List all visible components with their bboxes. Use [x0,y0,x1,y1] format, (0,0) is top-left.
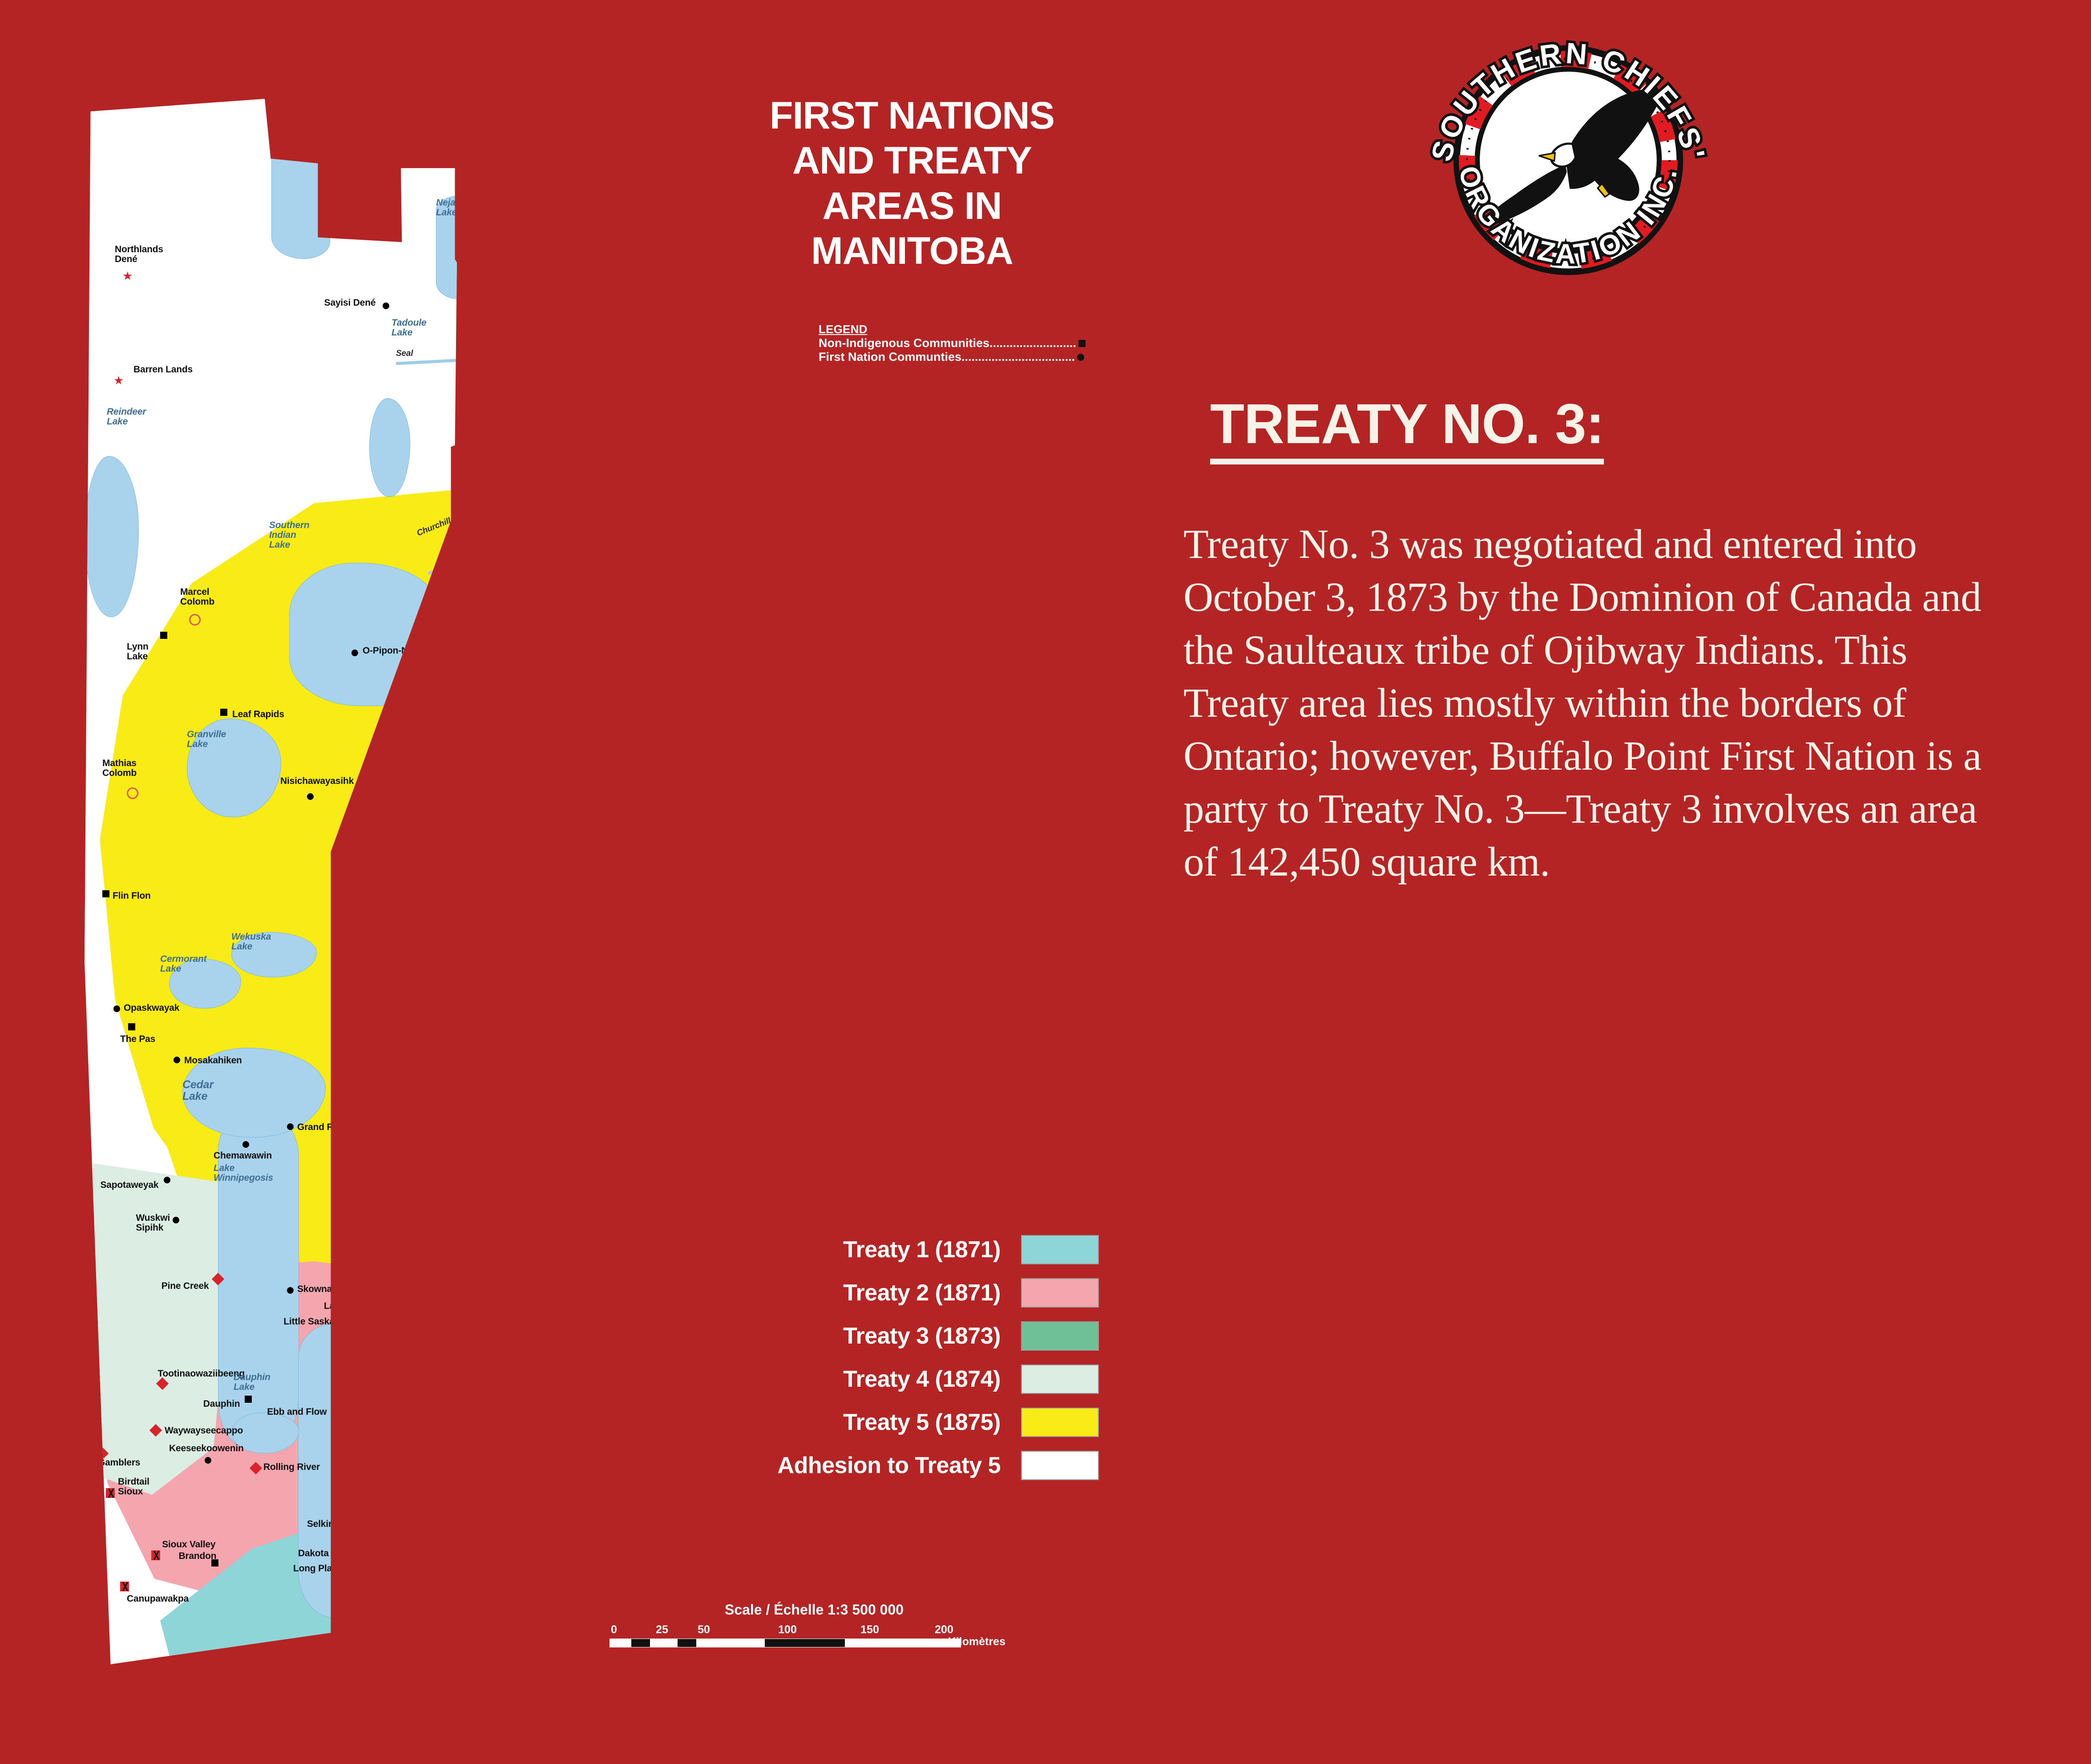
marker-dakota-plains [334,1582,343,1591]
marker-fisher-river [480,1358,492,1368]
marker-gillam [563,773,570,780]
label-little-black-river: Little BlackRiver [414,1439,463,1459]
label-gods-river: God's [667,825,690,834]
label-war-lake: War Lake [577,821,618,831]
label-gods-lake: God's Lake [496,936,545,946]
marker-rolling-river [250,1462,262,1474]
label-bunibonibee: Bunibonibee [436,894,492,904]
marker-garden-hill [631,1025,638,1032]
marker-barren-lands: ★ [113,376,124,387]
marker-ebb-and-flow [331,1410,338,1417]
scale-ticks: 0 25 50 100 150 200 [610,1623,1001,1639]
square-marker-icon [1078,340,1086,347]
marker-o-pipon-na-piwin [351,650,358,656]
marker-canupawakpa [120,1582,129,1591]
label-wasagamack: Wasagamack [556,1014,614,1024]
nelson-river-lower [515,714,625,868]
treaty-legend-row[interactable]: Treaty 1 (1871) [596,1228,1099,1271]
label-cedar-lake: CedarLake [182,1079,214,1102]
marker-flin-flon [102,890,109,897]
label-nejanilini-lake: NejaniliniLake [436,198,476,218]
marker-skownan [287,1287,294,1294]
label-brokenhead: Brokenhead [369,1524,422,1534]
marker-lake-manitoba [360,1430,367,1437]
label-buffalo-point: Buffalo Point [601,1736,661,1745]
label-ebb-and-flow: Ebb and Flow [267,1407,329,1417]
marker-poplar-river [463,1143,469,1150]
label-wuskwi-sipihk: WuskwiSipihk [136,1213,170,1233]
label-assiniboine-river: Assiniboine [351,1551,398,1577]
marker-st-theresa-point [612,1039,618,1045]
marker-sayisi-dene [383,303,389,309]
label-lake-manitoba: Lake Manitoba [371,1429,435,1439]
label-steinbach: Steinbach [458,1671,502,1680]
marker-wuskwi-sipihk [173,1217,179,1223]
label-winnipeg: Winnipeg [434,1622,475,1631]
scale-title: Scale / Échelle 1:3 500 000 [627,1602,1001,1618]
label-southern-indian-lake: SouthernIndianLake [269,521,310,550]
churchill-river [428,501,649,575]
scale-tick-0: 0 [611,1623,617,1636]
label-barren-lands: Barren Lands [133,365,193,375]
cross-lake [414,910,544,1017]
oxford-lake [529,945,633,995]
label-gamblers: Gamblers [98,1458,140,1468]
label-brandon: Brandon [178,1551,219,1561]
label-portage-la-prairie: Portage la Prairie [369,1540,444,1550]
marker-thompson [360,795,367,802]
marker-berens-river [480,1212,487,1219]
label-river-east: River [787,725,800,747]
marker-gods-lake [487,938,494,945]
treaty-2-label: Treaty 2 (1871) [843,1280,1001,1306]
marker-sandy-bay [363,1464,369,1470]
title-line-3: AREAS IN [730,184,1094,229]
community-legend: LEGEND Non-Indigenous Communities ......… [819,323,1130,364]
marker-york-factory [554,787,561,794]
marker-leaf-rapids [220,709,227,716]
treaty-legend-row[interactable]: Adhesion to Treaty 5 [596,1444,1099,1487]
treaty-5-swatch [1021,1408,1099,1437]
marker-lynn-lake [160,632,167,639]
marker-shamattawa [814,771,821,778]
treaty-2-swatch [1021,1278,1099,1308]
label-mathias-colomb: MathiasColomb [102,759,137,778]
hayes-river [671,594,726,756]
marker-sapotaweyak [164,1177,170,1183]
treaty-legend-row[interactable]: Treaty 2 (1871) [596,1271,1099,1314]
marker-opaskwayak [113,1005,120,1012]
map-scale: Scale / Échelle 1:3 500 000 0 25 50 100 … [610,1602,1001,1647]
label-pine-creek: Pine Creek [161,1281,211,1291]
label-lake-winnipegosis: LakeWinnipegosis [214,1163,273,1183]
label-roseau-river: Roseau River [402,1711,461,1720]
marker-little-black-river [404,1453,411,1459]
treaty-4-label: Treaty 4 (1874) [843,1366,1001,1393]
label-wekuska-lake: WekuskaLake [231,932,271,952]
title-line-4: MANITOBA [730,229,1094,274]
label-cross-lake-water: CrossLake [423,921,449,941]
label-island-lake: Island Lake [649,1030,698,1040]
treaty-3-swatch [1021,1321,1099,1351]
marker-little-grand-rapids [552,1292,558,1299]
label-lake-manitoba-water: LakeManitoba [351,1484,409,1512]
label-dakota-plains: Dakota Plains [347,1585,407,1595]
marker-chemawawin [242,1141,249,1148]
red-sucker-lake-water [694,990,771,1031]
map-title: FIRST NATIONS AND TREATY AREAS IN MANITO… [730,93,1094,274]
label-rolling-river: Rolling River [263,1462,320,1472]
label-little-grand-rapids: Little GrandRapids [487,1292,538,1312]
label-lynn-lake: LynnLake [127,642,149,662]
marker-roseau-river [392,1711,398,1717]
label-berens-river: Berens River [491,1203,548,1213]
label-kinonjeoshtegon: Kinonjeoshtegon [440,1279,516,1289]
label-o-chi-chak-ko-sipi: O-Chi-Chak-Ko-Sipi [334,1357,419,1367]
label-o-pipon-na-piwin: O-Pipon-Na-Piwin [363,646,440,656]
marker-grand-rapids [287,1123,294,1130]
label-tataskweyak: Tataskweyak [485,727,541,737]
label-split-lake: Split Lake [529,745,573,755]
label-fox-lake: Fox Lake [583,752,622,762]
treaty-5-label: Treaty 5 (1875) [843,1409,1001,1436]
sipiwesk-lake [360,896,472,982]
marker-long-plain [346,1566,353,1573]
label-hayes-river-north: Hayes River [688,650,711,698]
marker-tootinaowaziibeeng [156,1377,169,1390]
label-cross-lake: CrossLake [438,951,464,970]
label-northlands-dene: NorthlandsDené [115,245,163,264]
treaty-info-panel: TREATY NO. 3: Treaty No. 3 was negotiate… [1183,392,2002,888]
label-canupawakpa: Canupawakpa [127,1594,189,1604]
label-gods-lake-water: God'sLake [543,916,569,936]
molson-lake [521,994,601,1033]
label-dakota-tipi: Dakota Tipi [298,1549,347,1558]
marker-war-lake [583,812,589,819]
label-reindeer-lake: ReindeerLake [107,407,146,427]
legend-row-non-indigenous: Non-Indigenous Communities .............… [819,336,1130,350]
label-sagkeeng: Sagkeeng [424,1483,468,1493]
dot-marker-icon [1077,354,1084,361]
legend-row-first-nation: First Nation Communties ................… [819,350,1130,364]
label-little-saskatchewan: Little Saskatchewan [283,1317,374,1327]
nelson-river [414,755,645,775]
marker-o-chi-chak-ko-sipi [340,1347,347,1353]
label-sipiwesk-lake: SipiweskLake [358,894,397,914]
label-pinaymootang: Pinaymootang [384,1332,447,1342]
label-bloodvein: Bloodvein [431,1314,475,1324]
label-st-theresa-point: St. TheresaPoint [594,1048,643,1067]
marker-steinbach [447,1671,454,1678]
marker-pinaymootang [374,1333,380,1340]
label-thompson: Thompson [371,796,419,806]
label-sandy-bay: SandyBay [333,1453,360,1472]
gods-lake [658,932,757,991]
label-opaskwayak: Opaskwayak [124,1003,179,1013]
scale-tick-25: 25 [656,1623,668,1636]
label-gillam: Gillam [574,781,602,791]
marker-bloodvein [420,1315,427,1321]
label-seal-river-word: River [507,358,528,367]
label-tootinaowaziibeeng: Tootinaowaziibeeng [157,1369,245,1379]
treaty-color-legend: Treaty 1 (1871) Treaty 2 (1871) Treaty 3… [596,1228,1099,1487]
label-cermorant-lake: CermorantLake [160,954,206,974]
marker-waywayseecappo [149,1424,162,1437]
label-lake-st-martin: Lake St. Martin [324,1301,392,1311]
label-marcel-colomb: MarcelColomb [180,587,214,607]
label-hayes-river: Hayes [614,817,634,842]
scale-units: Kilomètres [948,1635,1005,1648]
marker-buffalo-point [663,1733,670,1740]
treaty-1-label: Treaty 1 (1871) [843,1236,1001,1263]
adhesion-treaty-5-label: Adhesion to Treaty 5 [778,1452,1001,1479]
marker-hollow-water [409,1413,416,1419]
legend-label-non-indigenous: Non-Indigenous Communities [819,336,989,350]
marker-bunibonibee [472,916,479,923]
treaty-1-swatch [1021,1235,1099,1264]
treaty-legend-row[interactable]: Treaty 3 (1873) [596,1314,1099,1357]
label-keeseekoowenin: Keeseekoowenin [169,1444,244,1453]
marker-manto-sipi [558,914,565,921]
marker-fox-lake [572,741,578,747]
label-dauphin-river: DauphinRiver [354,1265,391,1284]
scale-tick-200: 200 [935,1623,953,1636]
scale-tick-100: 100 [778,1623,797,1636]
scale-bar-seg-3 [765,1639,845,1647]
marker-norway-house [489,1033,496,1040]
marker-northlands-dene: ★ [122,271,133,282]
legend-dots-non-indigenous: .......................... [989,336,1076,350]
marker-portage-la-prairie [369,1551,376,1558]
title-line-1: FIRST NATIONS [730,93,1094,138]
marker-dauphin [245,1396,252,1403]
label-shamattawa: Shamattawa [743,774,797,784]
marker-winnipeg: ★ [420,1617,431,1628]
marker-mosakahiken [174,1057,180,1063]
adhesion-treaty-5-swatch [1021,1451,1099,1480]
label-peguis: Peguis [426,1378,458,1388]
scale-bar-seg-2 [678,1639,696,1647]
label-nisichawayasihk: Nisichawayasihk [280,776,354,786]
legend-label-first-nation: First Nation Communties [819,350,961,364]
marker-nisichawayasihk [307,793,314,800]
label-hollow-water: Hollow Water [420,1406,478,1416]
label-long-plain: Long Plain [293,1564,343,1574]
split-lake [529,750,619,782]
label-seal-river: Seal [396,349,413,358]
marker-dakota-tipi [349,1557,358,1567]
treaty-heading: TREATY NO. 3: [1210,392,1604,464]
label-poplar-river: Poplar River [473,1142,527,1152]
label-flin-flon: Flin Flon [113,891,151,901]
southern-chiefs-organization-logo: SOUTHERN CHIEFS' ORGANIZATION INC. [1421,13,1715,307]
label-churchill-river: Churchill [416,517,452,538]
marker-sagkeeng [414,1484,420,1490]
marker-the-pas [128,1023,135,1030]
label-nelson-river: Nelson River [468,787,491,838]
marker-churchill [543,280,550,287]
label-granville-lake: GranvilleLake [187,730,226,749]
label-garden-hill: GardenHill [641,1003,673,1023]
lake-winnipeg [334,1039,495,1511]
marker-lake-st-martin [391,1303,397,1310]
label-the-pas: The Pas [120,1034,155,1044]
label-churchill: Churchill [541,291,580,301]
treaty-3-label: Treaty 3 (1873) [843,1323,1001,1349]
label-norway-house: Norway House [500,1032,564,1042]
marker-keeseekoowenin [205,1457,211,1464]
label-winnipeg-river: Winnipeg River [460,1474,517,1512]
label-red-river: Red River [425,1642,446,1682]
label-manto-sipi: Manto Sipi [569,892,616,902]
label-leaf-rapids: Leaf Rapids [232,710,284,719]
label-pauingassi: Pauingassi [547,1237,596,1247]
scale-tick-150: 150 [860,1623,879,1636]
label-waywayseecappo: Waywayseecappo [165,1426,243,1436]
label-selkirk: Selkirk [307,1519,337,1529]
label-mosakahiken: Mosakahiken [184,1056,242,1066]
treaty-4-swatch [1021,1364,1099,1394]
legend-title: LEGEND [819,323,1130,336]
marker-pine-creek [212,1273,224,1285]
label-grand-rapids: Grand Rapids [297,1122,357,1132]
label-dauphin: Dauphin [203,1399,242,1409]
island-lake [650,1030,766,1089]
marker-marcel-colomb [189,614,201,626]
label-fisher-river: Fish.River [490,1359,513,1379]
marker-brokenhead [378,1515,385,1522]
label-sapotaweyak: Sapotaweyak [101,1180,161,1190]
label-skownan: Skownan [297,1284,338,1294]
title-line-2: AND TREATY [730,138,1094,183]
label-red-sucker-lake: Red Sucker Lake [556,970,630,980]
label-nueltin-lake: NueltinLake [276,140,307,160]
label-sioux-valley: Sioux Valley [162,1540,218,1550]
marker-selkirk [343,1530,350,1538]
scale-tick-50: 50 [698,1623,710,1636]
legend-dots-first-nation: .................................. [961,350,1075,364]
marker-sioux-valley [151,1550,160,1560]
poster-root: NueltinLake NejaniliniLake ★ NorthlandsD… [0,0,2091,1753]
marker-birdtail-sioux [106,1488,115,1498]
marker-tataskweyak [541,738,547,744]
label-tadoule-lake: TadouleLake [392,318,426,338]
marker-wasagamack [612,1028,618,1034]
marker-red-sucker-lake [630,978,636,985]
scale-bar-seg-1 [631,1639,650,1647]
label-york-factory: York Factory [564,787,619,796]
treaty-legend-row[interactable]: Treaty 5 (1875) [596,1401,1099,1444]
marker-mathias-colomb [127,787,138,799]
treaty-legend-row[interactable]: Treaty 4 (1874) [596,1357,1099,1401]
treaty-body-text: Treaty No. 3 was negotiated and entered … [1183,518,2002,888]
marker-dauphin-river [387,1286,394,1293]
marker-kinonjeoshtegon [480,1292,492,1302]
label-molson-lake: Molson Lake [392,994,447,1004]
label-chemawawin: Chemawawin [214,1151,272,1161]
label-birdtail-sioux: BirdtailSioux [118,1477,149,1497]
marker-peguis [460,1376,472,1388]
label-lake-winnipeg: LakeWinnipeg [356,1132,427,1166]
marker-little-saskatchewan [371,1319,378,1326]
label-dauphin-lake: DauphinLake [234,1372,270,1392]
marker-cross-lake [429,952,436,959]
scale-bar [610,1639,961,1647]
label-oxford-lake: OxfordLake [454,923,484,943]
